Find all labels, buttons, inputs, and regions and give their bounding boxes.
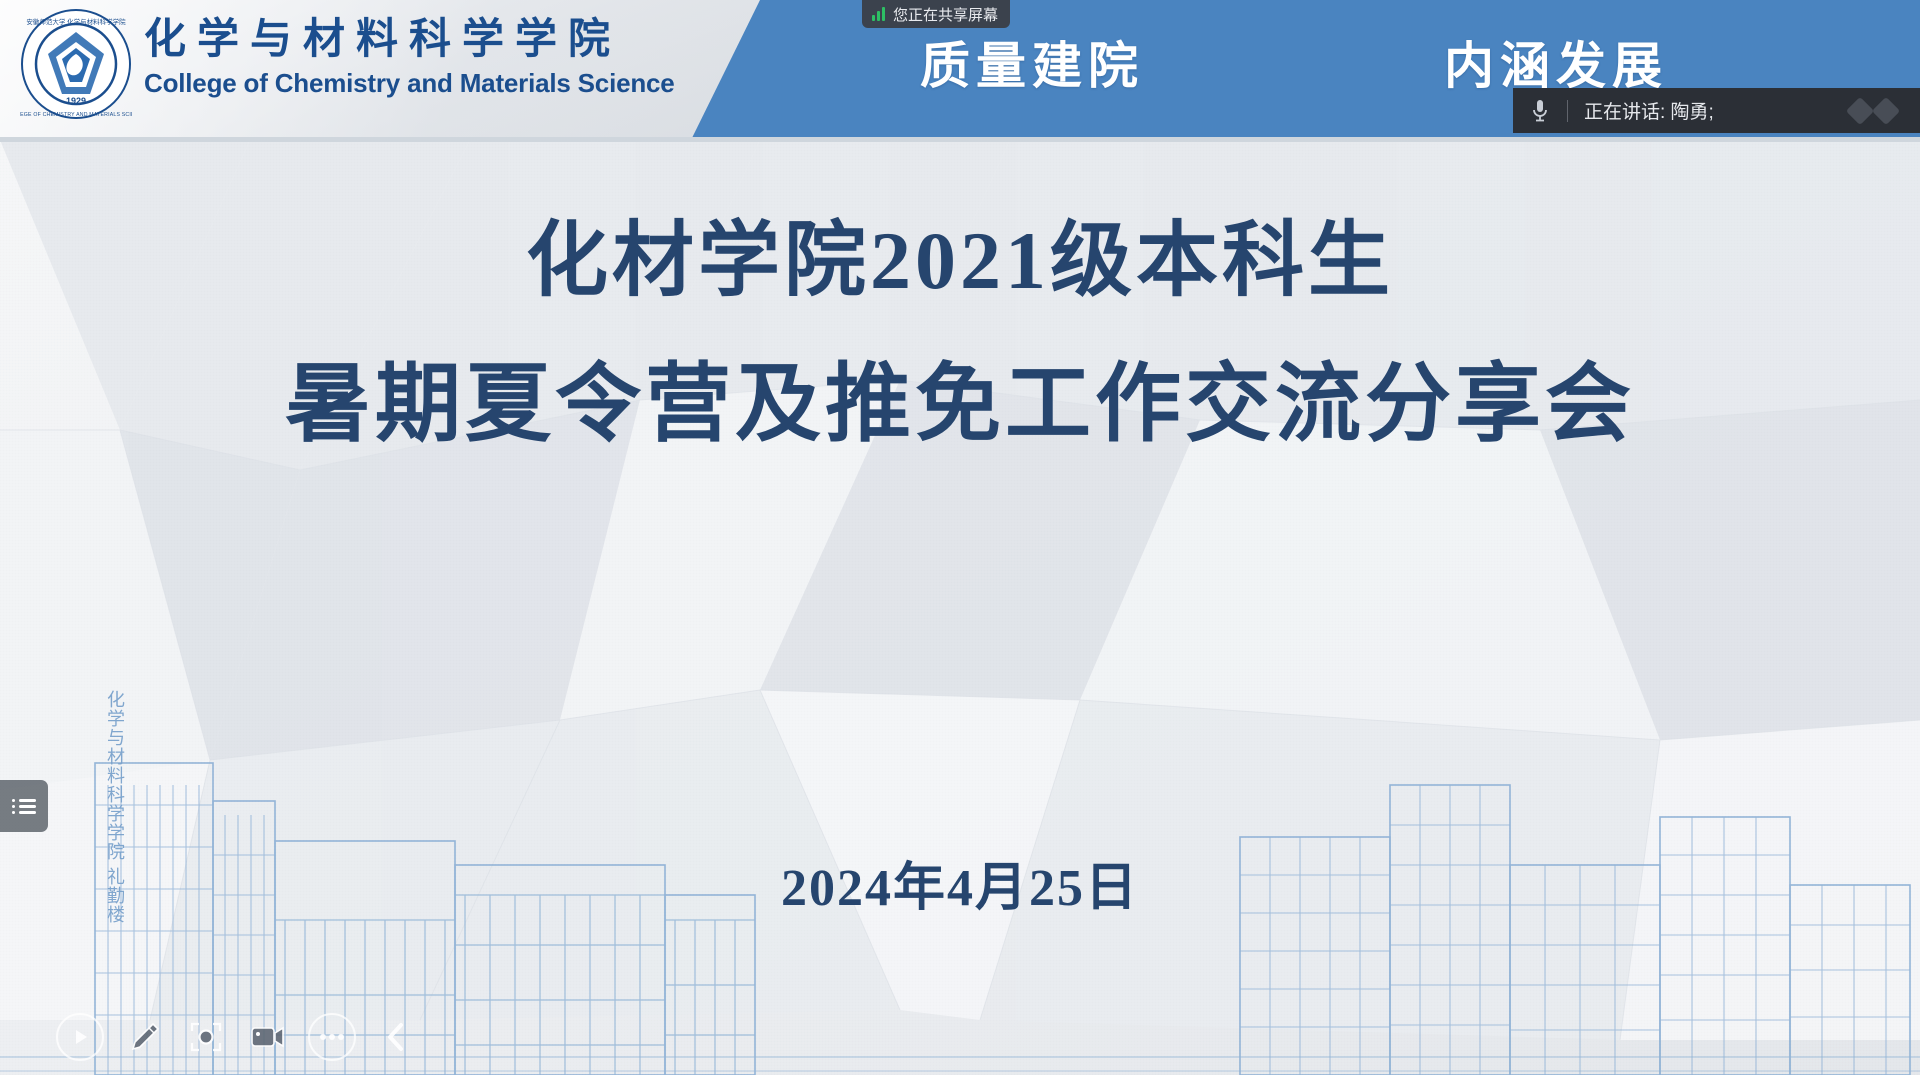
play-button[interactable] (56, 1013, 104, 1061)
more-icon (318, 1032, 346, 1042)
college-crest-icon: 1929 安徽师范大学 化学与材料科学学院 COLLEGE OF CHEMIST… (20, 8, 132, 120)
screenshot-button[interactable] (184, 1015, 228, 1059)
svg-text:COLLEGE OF CHEMISTRY AND MATER: COLLEGE OF CHEMISTRY AND MATERIALS SCIEN… (20, 112, 132, 118)
svg-text:1929: 1929 (66, 96, 86, 106)
svg-text:安徽师范大学 化学与材料科学学院: 安徽师范大学 化学与材料科学学院 (26, 17, 126, 26)
meeting-app-watermark-icon (1840, 93, 1910, 129)
header-divider (0, 137, 1920, 142)
chevron-left-icon (385, 1022, 407, 1052)
pen-button[interactable] (122, 1015, 166, 1059)
active-speaker-bar[interactable]: 正在讲话: 陶勇; (1513, 88, 1920, 133)
title-line-1: 化材学院2021级本科生 (0, 210, 1920, 313)
screen-share-banner-label: 您正在共享屏幕 (893, 4, 998, 25)
slide-toolbar[interactable] (56, 1011, 418, 1063)
screenshot-icon (189, 1021, 223, 1053)
left-menu-button[interactable] (0, 780, 48, 832)
active-speaker-label: 正在讲话: 陶勇; (1568, 97, 1714, 124)
college-name-en: College of Chemistry and Materials Scien… (144, 70, 675, 96)
play-icon (70, 1027, 90, 1047)
presentation-slide: 化学与材料科学学院 礼勤楼 化材学院2021级本科生 暑期夏令营及推免工作交流分… (0, 0, 1920, 1075)
record-video-button[interactable] (246, 1015, 290, 1059)
record-video-icon (250, 1024, 286, 1050)
pen-icon (127, 1020, 161, 1054)
screen-share-window: 化学与材料科学学院 礼勤楼 化材学院2021级本科生 暑期夏令营及推免工作交流分… (0, 0, 1920, 1075)
slide-title-block: 化材学院2021级本科生 暑期夏令营及推免工作交流分享会 (0, 210, 1920, 460)
more-button[interactable] (308, 1013, 356, 1061)
college-name-block: 化学与材料科学学院 College of Chemistry and Mater… (144, 18, 675, 96)
collapse-toolbar-button[interactable] (374, 1015, 418, 1059)
signal-bars-icon (872, 7, 885, 21)
header-slogan-left: 质量建院 (920, 26, 1144, 98)
screen-share-banner[interactable]: 您正在共享屏幕 (862, 0, 1010, 28)
slide-date: 2024年4月25日 (0, 845, 1920, 920)
college-name-cn: 化学与材料科学学院 (144, 18, 675, 60)
microphone-icon (1513, 98, 1567, 124)
title-line-2: 暑期夏令营及推免工作交流分享会 (0, 349, 1920, 461)
list-menu-icon (12, 796, 36, 817)
